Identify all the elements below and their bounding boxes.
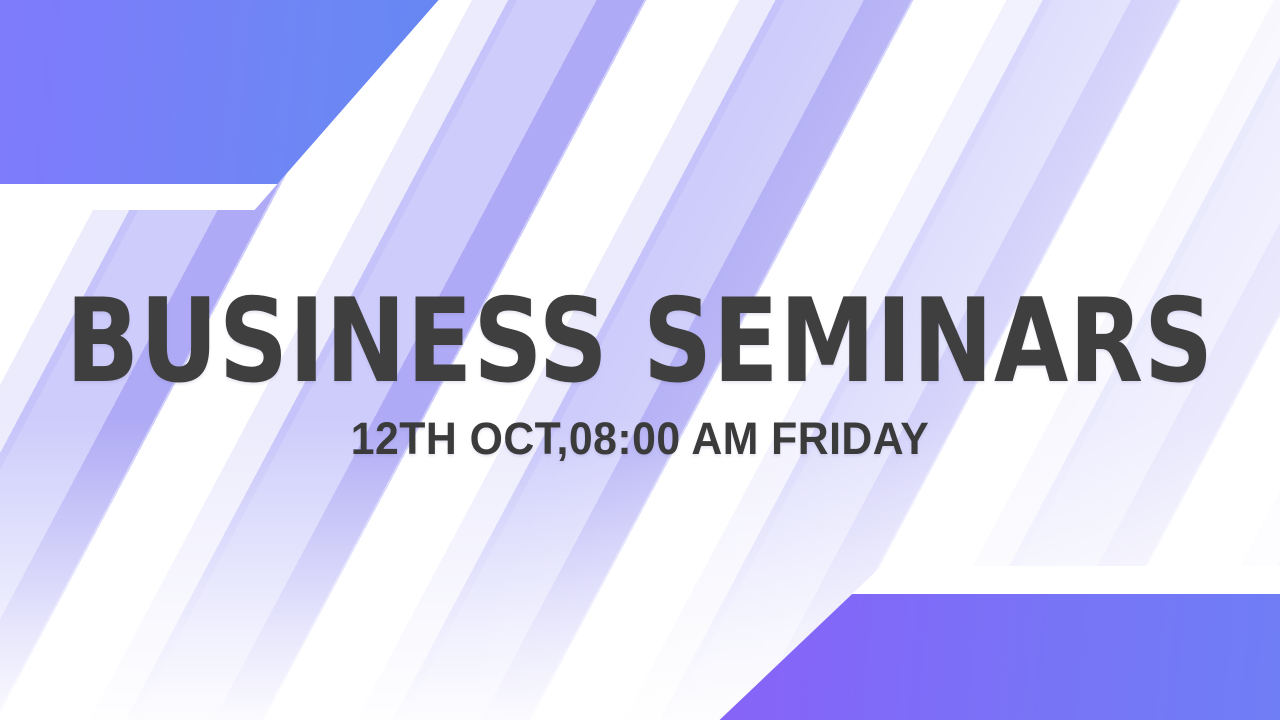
top-left-gradient-panel <box>0 0 570 210</box>
event-text-block: BUSINESS SEMINARS 12TH OCT,08:00 AM FRID… <box>0 284 1280 461</box>
top-left-panel-fill <box>0 0 546 184</box>
event-subtitle: 12TH OCT,08:00 AM FRIDAY <box>32 416 1248 461</box>
bottom-right-gradient-panel <box>608 566 1280 720</box>
bottom-right-panel-fill <box>634 594 1280 720</box>
event-title: BUSINESS SEMINARS <box>51 284 1229 400</box>
banner-canvas: BUSINESS SEMINARS 12TH OCT,08:00 AM FRID… <box>0 0 1280 720</box>
